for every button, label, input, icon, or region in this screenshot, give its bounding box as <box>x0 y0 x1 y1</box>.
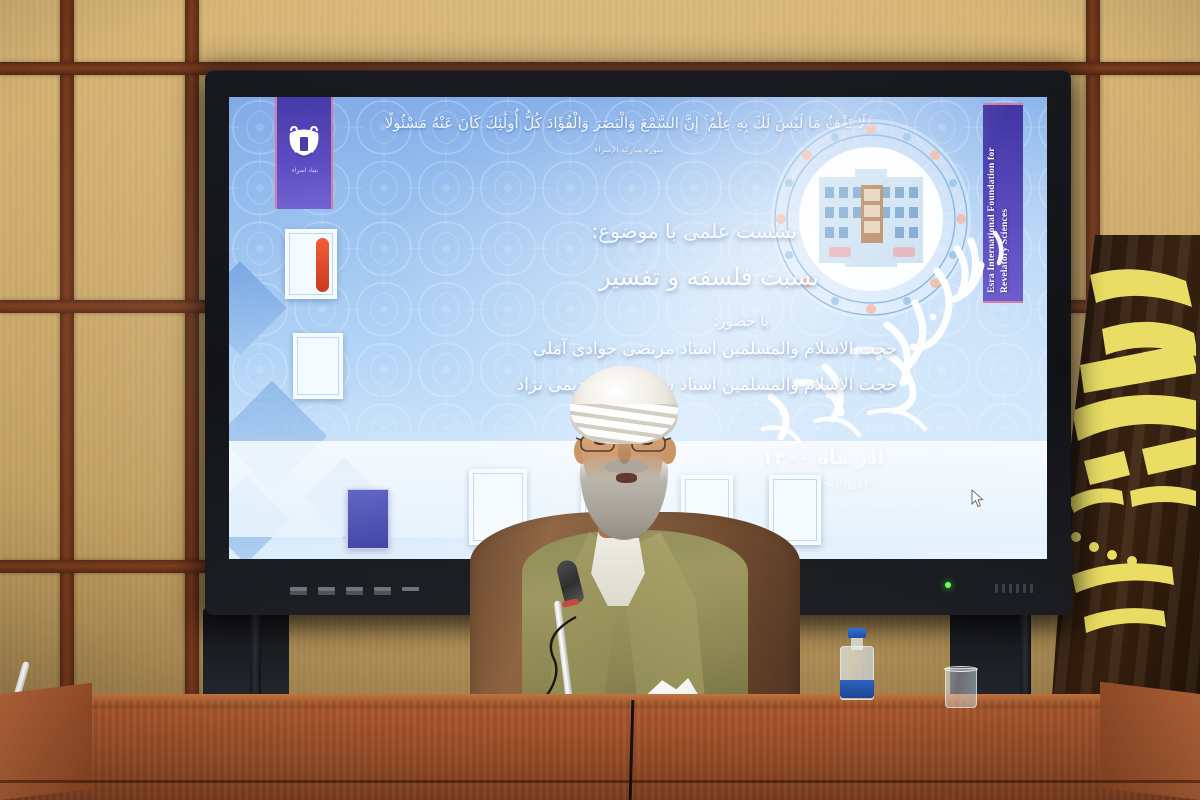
speaker-mouth <box>616 473 637 483</box>
book-cover <box>293 333 343 399</box>
display-button-volume-up[interactable] <box>374 587 391 591</box>
water-bottle-label <box>840 680 874 698</box>
slide-topic-title: نسبت فلسفه و تفسیر <box>599 263 819 291</box>
emblem-caption: بنیاد اسراء <box>281 167 329 185</box>
book-cover <box>347 489 389 549</box>
book-cover-frame <box>297 337 339 395</box>
water-bottle-cap <box>848 628 866 638</box>
display-button-source[interactable] <box>318 587 335 591</box>
display-button-volume-down[interactable] <box>346 587 363 591</box>
desk-seam <box>0 780 1200 783</box>
display-button-menu[interactable] <box>290 587 307 591</box>
photograph-scene: بنیاد اسراء Esra International Foundatio… <box>0 0 1200 800</box>
slide-speaker-one: حجت الاسلام والمسلمین استاد مرتضی جوادی … <box>533 339 897 359</box>
desk-wood-grain <box>0 700 1200 800</box>
display-speaker-grille <box>995 584 1033 593</box>
slide-topic-label: نشست علمی با موضوع: <box>592 219 797 243</box>
water-bottle <box>840 628 874 700</box>
mouse-pointer-icon <box>971 489 984 508</box>
display-button-power[interactable] <box>402 587 419 591</box>
drinking-glass-rim <box>944 666 978 672</box>
book-cover <box>285 229 337 299</box>
water-bottle-neck <box>851 636 863 650</box>
book-spine-accent <box>316 238 329 292</box>
esra-logo-icon <box>287 125 321 165</box>
display-power-led-icon <box>945 582 951 588</box>
display-control-buttons[interactable] <box>290 587 419 591</box>
drinking-glass <box>945 668 977 708</box>
slide-with-label: با حضور: <box>713 312 769 330</box>
